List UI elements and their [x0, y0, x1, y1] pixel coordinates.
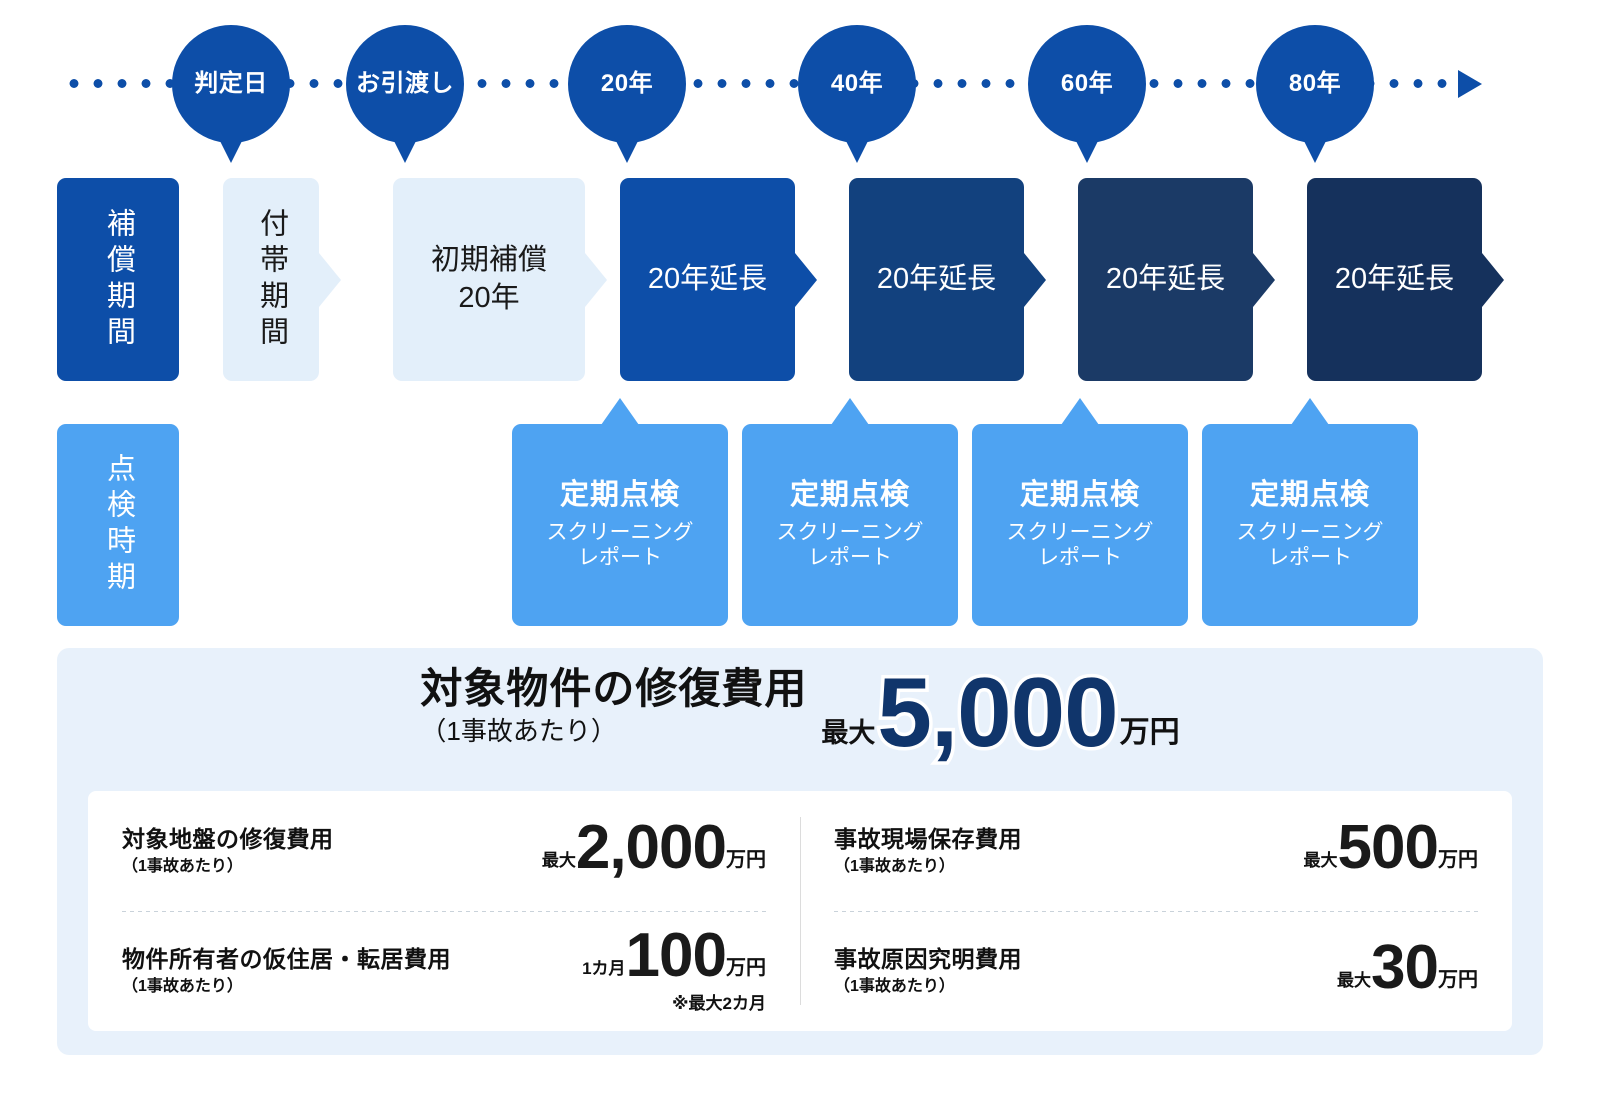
- timeline-node-5[interactable]: 60年: [1028, 25, 1146, 143]
- coverage-box-label: 20年延長: [648, 261, 767, 298]
- cost-item-value-group: 最大30万円: [1337, 940, 1478, 1002]
- headline-unit: 万円: [1120, 707, 1180, 751]
- coverage-box-label-2: 20年: [431, 280, 547, 317]
- cost-item-2: 事故現場保存費用（1事故あたり）最大500万円: [800, 791, 1512, 911]
- cost-panel-headline: 対象物件の修復費用 （1事故あたり） 最大 5,000 万円: [57, 666, 1543, 759]
- row-label-inspection: 点検時期: [57, 424, 179, 626]
- coverage-box-1[interactable]: 付帯期間: [223, 178, 319, 381]
- coverage-box-label: 20年延長: [1106, 261, 1225, 298]
- inspection-box-4[interactable]: 定期点検スクリーニングレポート: [1202, 424, 1418, 626]
- headline-title: 対象物件の修復費用: [420, 666, 807, 712]
- cost-item-note: ※最大2カ月: [582, 989, 766, 1014]
- row-label-inspection-text: 点検時期: [104, 453, 133, 597]
- headline-subtitle: （1事故あたり）: [420, 717, 807, 746]
- cost-panel: 対象物件の修復費用 （1事故あたり） 最大 5,000 万円 対象地盤の修復費用…: [57, 648, 1543, 1055]
- timeline-node-label: 20年: [601, 72, 653, 96]
- cost-item-per: （1事故あたり）: [122, 978, 582, 996]
- cost-item-amount: 30: [1371, 940, 1438, 996]
- cost-item-unit: 万円: [726, 843, 766, 872]
- inspection-box-title: 定期点検: [1020, 479, 1140, 512]
- cost-item-title: 事故原因究明費用: [834, 946, 1337, 972]
- cost-item-per: （1事故あたり）: [834, 978, 1337, 996]
- cost-item-amount: 2,000: [576, 820, 726, 876]
- cost-item-prefix: 最大: [1337, 966, 1371, 991]
- timeline-node-2[interactable]: お引渡し: [346, 25, 464, 143]
- timeline-node-pointer: [218, 137, 244, 163]
- cost-item-title: 対象地盤の修復費用: [122, 826, 542, 852]
- timeline-node-pointer: [1302, 137, 1328, 163]
- cost-item-per: （1事故あたり）: [122, 858, 542, 876]
- cost-item-grid: 対象地盤の修復費用（1事故あたり）最大2,000万円事故現場保存費用（1事故あた…: [88, 791, 1512, 1031]
- inspection-box-subtitle: スクリーニング: [777, 520, 924, 546]
- timeline-node-3[interactable]: 20年: [568, 25, 686, 143]
- timeline-node-label: 80年: [1289, 72, 1341, 96]
- cost-item-unit: 万円: [1438, 843, 1478, 872]
- coverage-box-label: 20年延長: [877, 261, 996, 298]
- coverage-box-5[interactable]: 20年延長: [1078, 178, 1253, 381]
- inspection-box-subtitle: スクリーニング: [547, 520, 694, 546]
- inspection-box-title: 定期点検: [790, 479, 910, 512]
- row-label-coverage-text: 補償期間: [104, 208, 133, 352]
- coverage-box-chevron-icon: [1482, 253, 1504, 307]
- cost-item-title: 事故現場保存費用: [834, 826, 1304, 852]
- timeline-node-label: 40年: [831, 72, 883, 96]
- coverage-box-label: 初期補償: [431, 242, 547, 279]
- headline-amount: 5,000: [877, 666, 1117, 759]
- inspection-box-subtitle-2: レポート: [808, 545, 892, 571]
- coverage-box-4[interactable]: 20年延長: [849, 178, 1024, 381]
- inspection-box-pointer-icon: [601, 398, 639, 425]
- cost-item-unit: 万円: [1438, 963, 1478, 992]
- coverage-box-6[interactable]: 20年延長: [1307, 178, 1482, 381]
- cost-item-unit: 万円: [726, 951, 766, 980]
- cost-item-amount: 500: [1338, 820, 1438, 876]
- inspection-box-1[interactable]: 定期点検スクリーニングレポート: [512, 424, 728, 626]
- coverage-box-3[interactable]: 20年延長: [620, 178, 795, 381]
- cost-item-per: （1事故あたり）: [834, 858, 1304, 876]
- inspection-box-3[interactable]: 定期点検スクリーニングレポート: [972, 424, 1188, 626]
- inspection-box-pointer-icon: [1291, 398, 1329, 425]
- inspection-box-subtitle: スクリーニング: [1007, 520, 1154, 546]
- cost-item-label-group: 事故現場保存費用（1事故あたり）: [834, 826, 1304, 876]
- cost-item-prefix: 最大: [542, 846, 576, 871]
- cost-item-value-group: 最大2,000万円: [542, 820, 766, 882]
- timeline: 判定日お引渡し20年40年60年80年: [0, 0, 1600, 170]
- coverage-box-chevron-icon: [795, 253, 817, 307]
- headline-prefix: 最大: [821, 711, 875, 750]
- inspection-box-subtitle-2: レポート: [1268, 545, 1352, 571]
- cost-item-3: 物件所有者の仮住居・転居費用（1事故あたり）1カ月100万円※最大2カ月: [88, 911, 800, 1031]
- cost-item-amount: 100: [626, 928, 726, 984]
- cost-item-label-group: 対象地盤の修復費用（1事故あたり）: [122, 826, 542, 876]
- coverage-box-label: 付帯期間: [252, 208, 289, 352]
- inspection-box-subtitle-2: レポート: [1038, 545, 1122, 571]
- timeline-node-6[interactable]: 80年: [1256, 25, 1374, 143]
- cost-item-value-group: 最大500万円: [1304, 820, 1478, 882]
- timeline-node-pointer: [614, 137, 640, 163]
- coverage-box-label: 20年延長: [1335, 261, 1454, 298]
- inspection-box-pointer-icon: [831, 398, 869, 425]
- timeline-node-label: 60年: [1061, 72, 1113, 96]
- arrow-right-icon: [1458, 70, 1482, 98]
- coverage-box-label-group: 初期補償20年: [431, 242, 547, 316]
- infographic-root: 判定日お引渡し20年40年60年80年 補償期間 付帯期間初期補償20年20年延…: [0, 0, 1600, 1102]
- cost-item-title: 物件所有者の仮住居・転居費用: [122, 946, 582, 972]
- timeline-node-pointer: [1074, 137, 1100, 163]
- coverage-box-2[interactable]: 初期補償20年: [393, 178, 585, 381]
- cost-item-label-group: 物件所有者の仮住居・転居費用（1事故あたり）: [122, 946, 582, 996]
- timeline-node-1[interactable]: 判定日: [172, 25, 290, 143]
- cost-item-prefix: 1カ月: [582, 954, 625, 979]
- coverage-box-chevron-icon: [319, 253, 341, 307]
- cost-item-1: 対象地盤の修復費用（1事故あたり）最大2,000万円: [88, 791, 800, 911]
- cost-item-4: 事故原因究明費用（1事故あたり）最大30万円: [800, 911, 1512, 1031]
- inspection-box-2[interactable]: 定期点検スクリーニングレポート: [742, 424, 958, 626]
- inspection-box-title: 定期点検: [1250, 479, 1370, 512]
- timeline-node-label: 判定日: [194, 72, 268, 96]
- cost-item-prefix: 最大: [1304, 846, 1338, 871]
- row-label-coverage: 補償期間: [57, 178, 179, 381]
- inspection-box-pointer-icon: [1061, 398, 1099, 425]
- coverage-box-chevron-icon: [1024, 253, 1046, 307]
- timeline-node-4[interactable]: 40年: [798, 25, 916, 143]
- coverage-box-chevron-icon: [585, 253, 607, 307]
- inspection-box-subtitle-2: レポート: [578, 545, 662, 571]
- inspection-box-subtitle: スクリーニング: [1237, 520, 1384, 546]
- cost-item-value-group: 1カ月100万円※最大2カ月: [582, 928, 766, 1015]
- timeline-node-pointer: [392, 137, 418, 163]
- timeline-node-label: お引渡し: [356, 72, 454, 96]
- cost-item-label-group: 事故原因究明費用（1事故あたり）: [834, 946, 1337, 996]
- coverage-box-chevron-icon: [1253, 253, 1275, 307]
- inspection-box-title: 定期点検: [560, 479, 680, 512]
- timeline-node-pointer: [844, 137, 870, 163]
